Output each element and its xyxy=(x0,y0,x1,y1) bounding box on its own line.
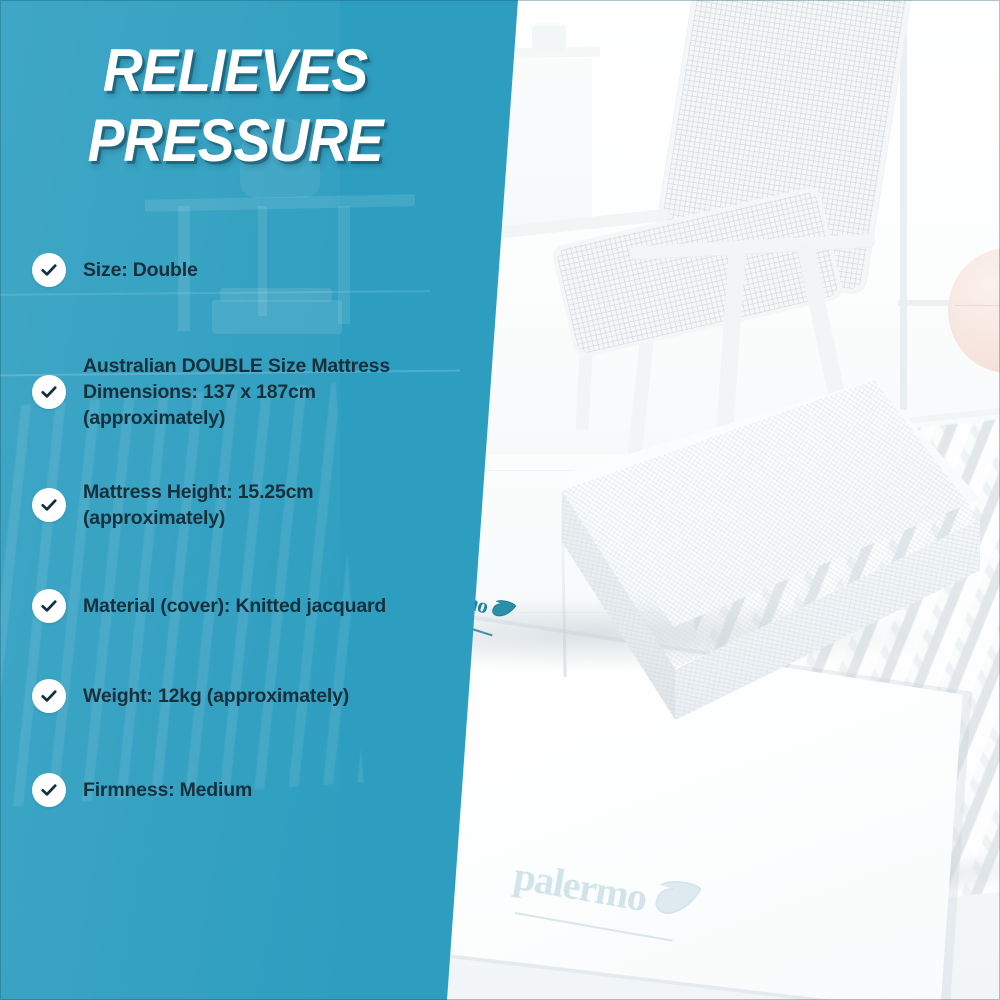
pouf-seam xyxy=(955,305,1000,306)
list-item-label: Material (cover): Knitted jacquard xyxy=(83,590,386,620)
check-circle-icon xyxy=(32,488,66,522)
product-infographic: palermo palermo xyxy=(0,0,1000,1000)
swoosh-icon xyxy=(648,874,708,932)
list-item: Weight: 12kg (approximately) xyxy=(32,672,452,718)
list-item: Size: Double xyxy=(32,246,452,292)
cup xyxy=(532,26,566,52)
list-item-label: Mattress Height: 15.25cm (approximately) xyxy=(83,476,452,532)
list-item: Australian DOUBLE Size Mattress Dimensio… xyxy=(32,350,452,432)
check-circle-icon xyxy=(32,253,66,287)
headline-line-1: RELIEVES xyxy=(19,42,451,101)
feature-list: Size: Double Australian DOUBLE Size Matt… xyxy=(32,246,452,848)
list-item: Firmness: Medium xyxy=(32,766,452,812)
list-item-label: Firmness: Medium xyxy=(83,774,252,804)
list-item-label: Australian DOUBLE Size Mattress Dimensio… xyxy=(83,350,452,432)
page-title: RELIEVES PRESSURE xyxy=(0,42,470,171)
check-circle-icon xyxy=(32,773,66,807)
headline-line-2: PRESSURE xyxy=(19,112,451,171)
list-item: Material (cover): Knitted jacquard xyxy=(32,582,452,628)
list-item-label: Weight: 12kg (approximately) xyxy=(83,680,349,710)
list-item-label: Size: Double xyxy=(83,254,198,284)
check-circle-icon xyxy=(32,679,66,713)
list-item: Mattress Height: 15.25cm (approximately) xyxy=(32,476,452,532)
check-circle-icon xyxy=(32,375,66,409)
check-circle-icon xyxy=(32,589,66,623)
